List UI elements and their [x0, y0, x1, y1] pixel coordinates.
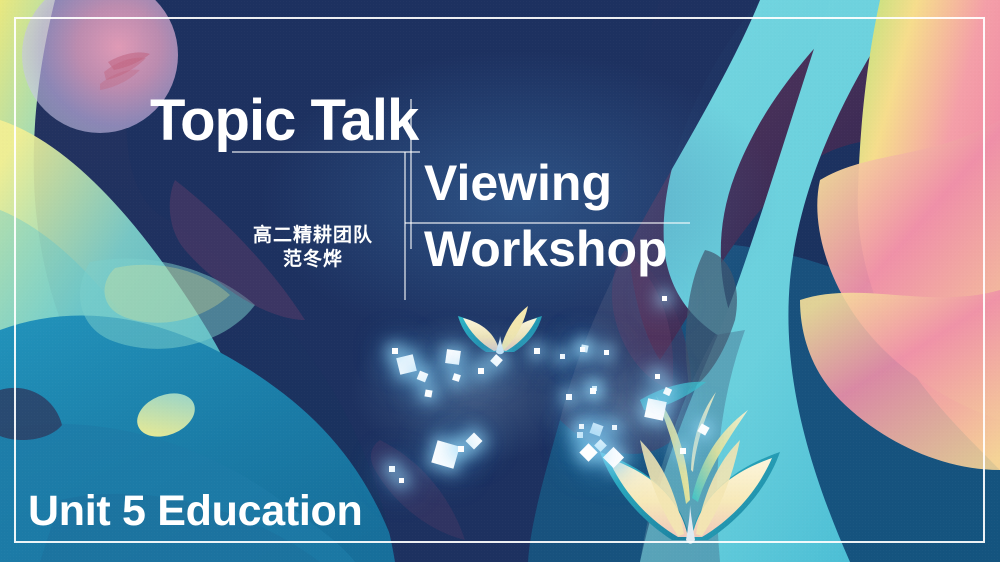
divider-vertical-bottom — [404, 152, 406, 300]
particle — [534, 348, 540, 354]
slide-title-viewing: Viewing — [424, 158, 612, 208]
particle — [424, 389, 432, 397]
particle — [392, 348, 398, 354]
particle — [655, 374, 660, 379]
particle — [680, 448, 686, 454]
particle — [399, 478, 404, 483]
particle — [389, 466, 395, 472]
particle — [662, 296, 667, 301]
background-artwork — [0, 0, 1000, 562]
particle — [579, 424, 584, 429]
particle — [580, 347, 585, 352]
presentation-slide: Topic Talk 高二精耕团队 范冬烨 Viewing Workshop U… — [0, 0, 1000, 562]
particle — [445, 349, 461, 365]
particle — [560, 354, 565, 359]
particle — [604, 350, 609, 355]
unit-label: Unit 5 Education — [28, 490, 362, 533]
particle — [478, 368, 484, 374]
particle — [458, 446, 464, 452]
slide-title-workshop: Workshop — [424, 224, 668, 274]
team-credit: 高二精耕团队 范冬烨 — [228, 224, 398, 273]
particle — [612, 425, 617, 430]
team-credit-line-2: 范冬烨 — [228, 248, 398, 272]
particle — [577, 432, 583, 438]
team-credit-line-1: 高二精耕团队 — [228, 224, 398, 248]
slide-title-topic-talk: Topic Talk — [150, 92, 418, 150]
particle — [644, 398, 667, 421]
particle — [590, 388, 596, 394]
particle — [566, 394, 572, 400]
